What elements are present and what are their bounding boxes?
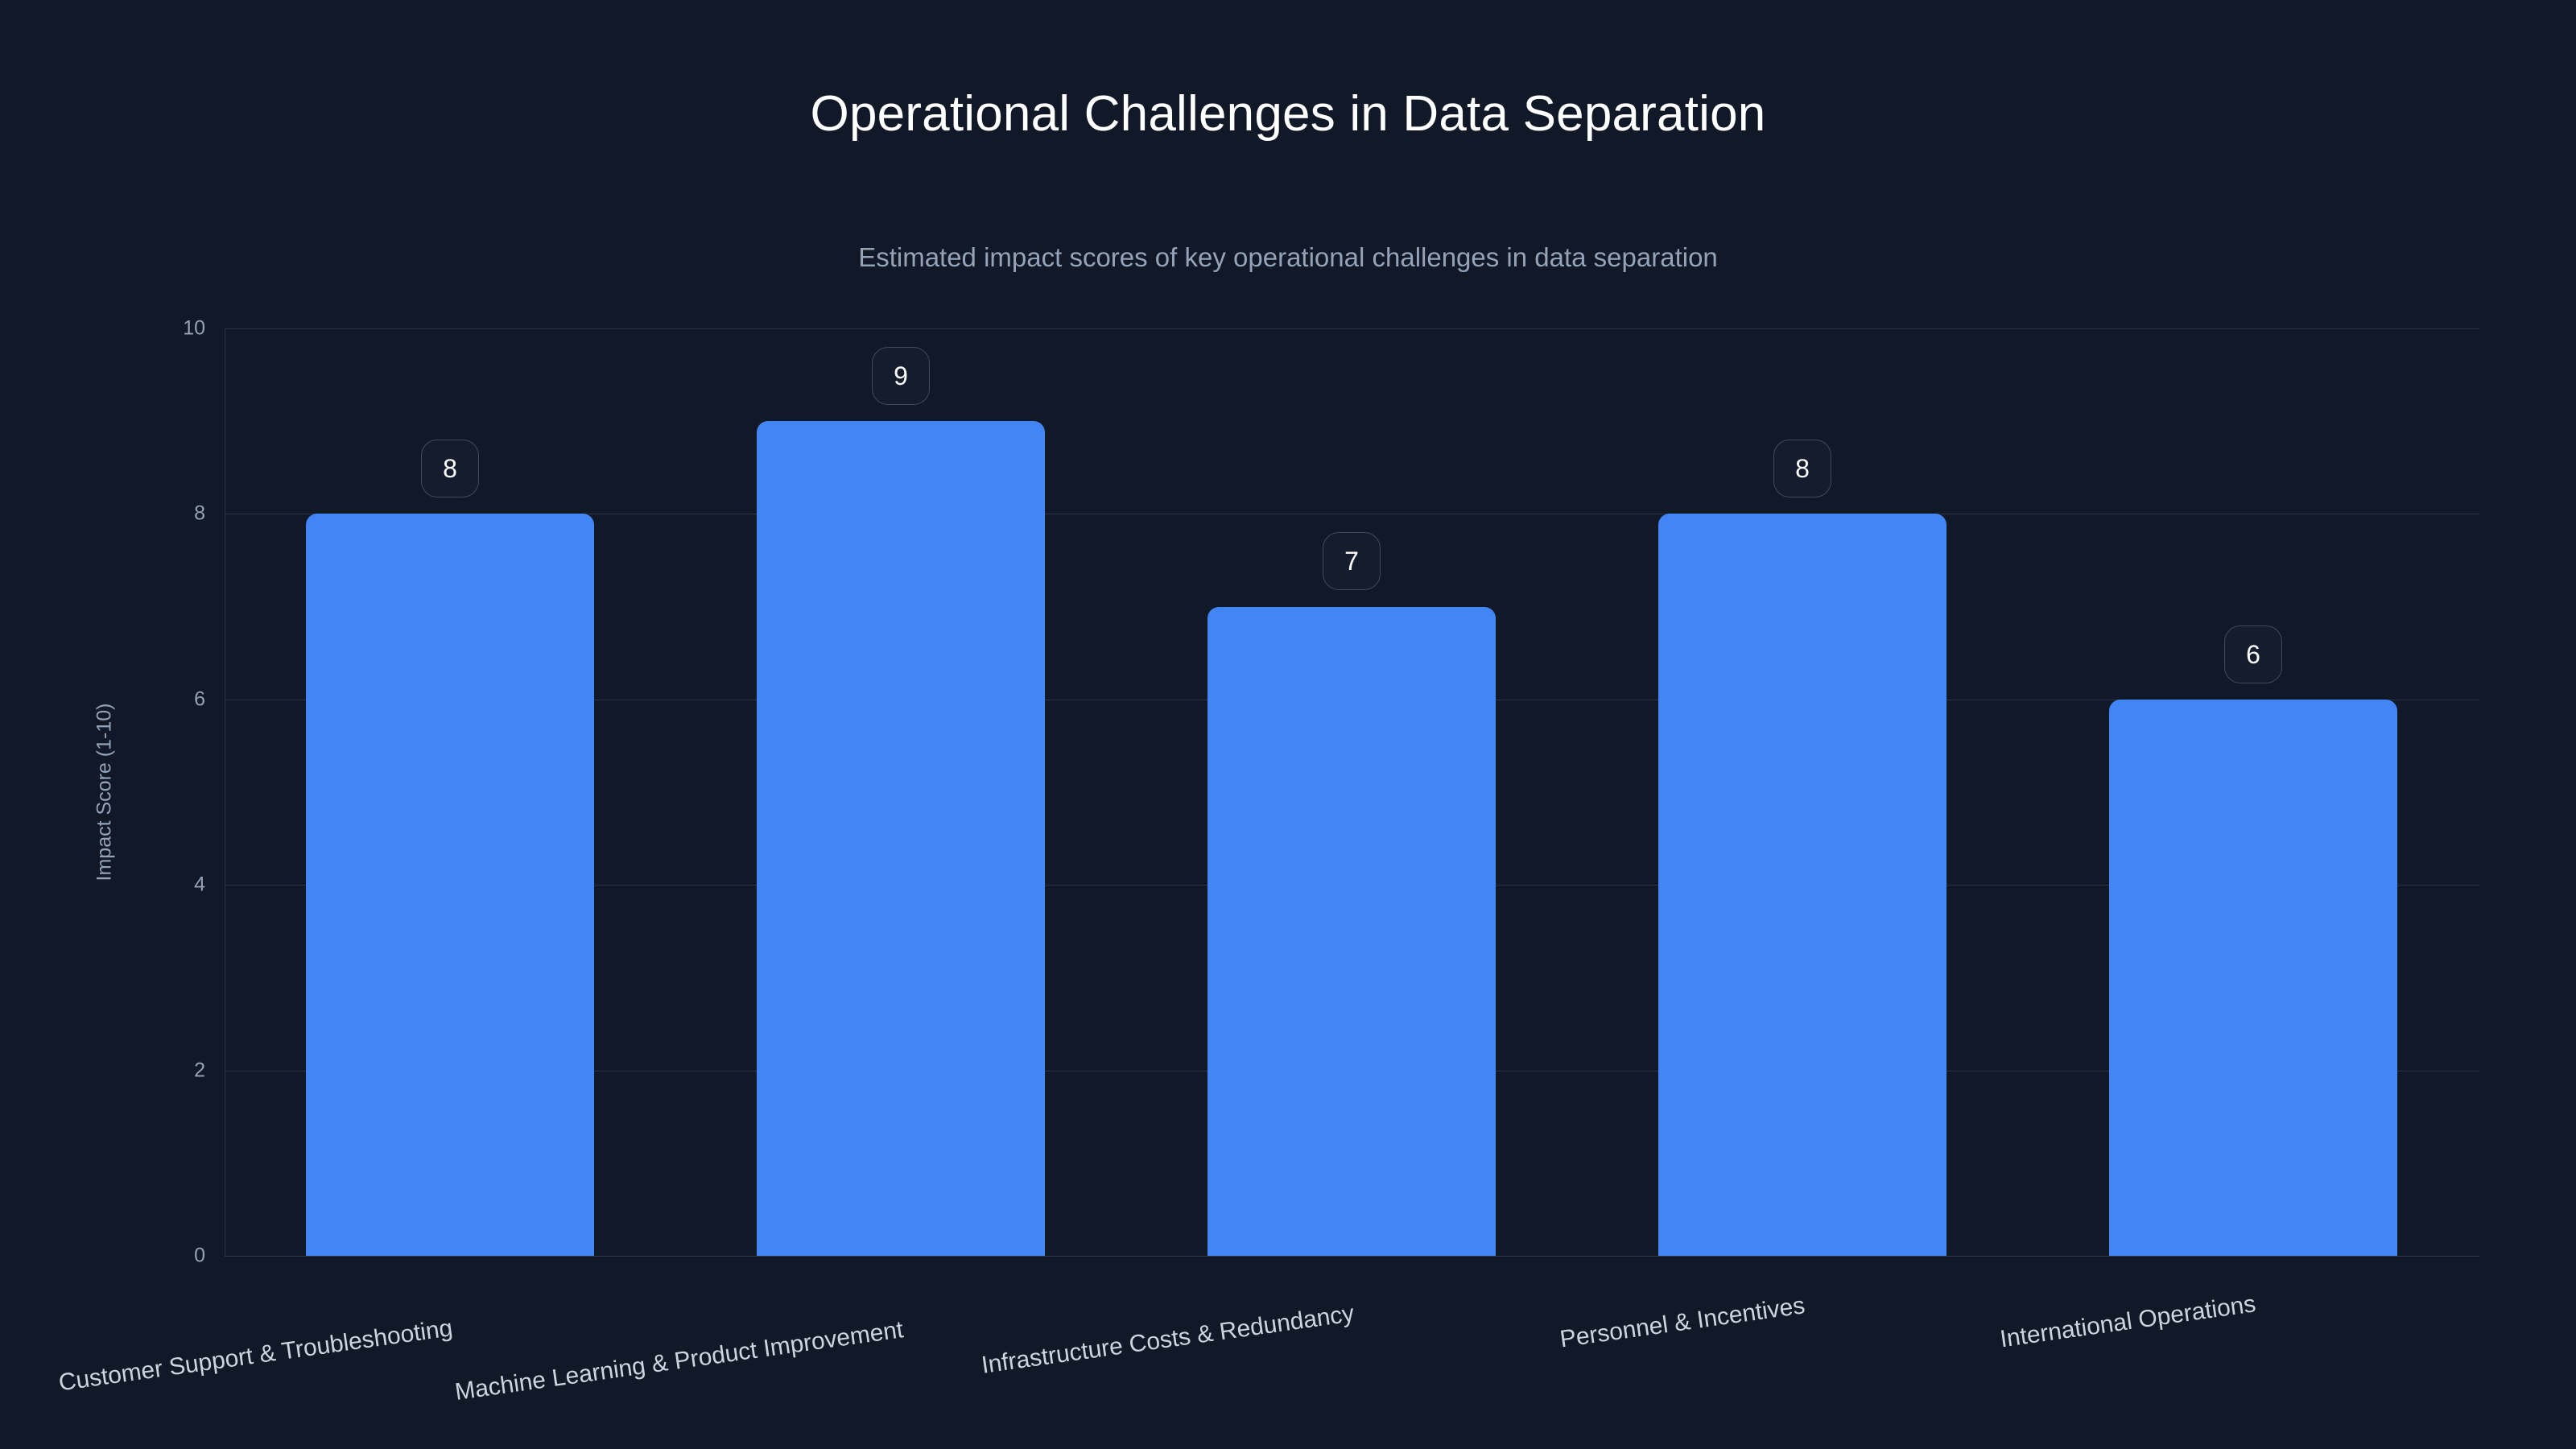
value-badge-personnel-incentives: 8 bbox=[1773, 440, 1831, 497]
chart-subtitle: Estimated impact scores of key operation… bbox=[0, 242, 2576, 274]
bar-personnel-incentives[interactable] bbox=[1658, 514, 1946, 1256]
value-badge-machine-learning-product-improvement: 9 bbox=[872, 347, 930, 405]
x-label-infrastructure-costs-redundancy: Infrastructure Costs & Redundancy bbox=[980, 1300, 1356, 1380]
y-tick-0: 0 bbox=[194, 1245, 205, 1268]
y-tick-2: 2 bbox=[194, 1059, 205, 1083]
value-badge-international-operations: 6 bbox=[2224, 625, 2282, 683]
x-label-machine-learning-product-improvement: Machine Learning & Product Improvement bbox=[453, 1316, 905, 1406]
bar-chart-canvas: Operational Challenges in Data Separatio… bbox=[0, 0, 2576, 1449]
y-tick-8: 8 bbox=[194, 502, 205, 526]
bar-international-operations[interactable] bbox=[2109, 700, 2397, 1256]
gridline-0-axis bbox=[225, 1256, 2479, 1257]
y-tick-10: 10 bbox=[183, 317, 205, 341]
bar-machine-learning-product-improvement[interactable] bbox=[757, 421, 1045, 1256]
chart-title: Operational Challenges in Data Separatio… bbox=[0, 87, 2576, 142]
bar-customer-support-troubleshooting[interactable] bbox=[306, 514, 594, 1256]
gridline-10 bbox=[225, 328, 2479, 329]
x-label-personnel-incentives: Personnel & Incentives bbox=[1558, 1292, 1807, 1353]
value-badge-customer-support-troubleshooting: 8 bbox=[421, 440, 479, 497]
y-axis-tick-labels: 10 8 6 4 2 0 bbox=[0, 0, 205, 1449]
value-badge-infrastructure-costs-redundancy: 7 bbox=[1323, 532, 1381, 590]
x-label-international-operations: International Operations bbox=[1999, 1290, 2258, 1353]
y-tick-4: 4 bbox=[194, 873, 205, 897]
bar-infrastructure-costs-redundancy[interactable] bbox=[1207, 607, 1496, 1256]
y-tick-6: 6 bbox=[194, 688, 205, 712]
